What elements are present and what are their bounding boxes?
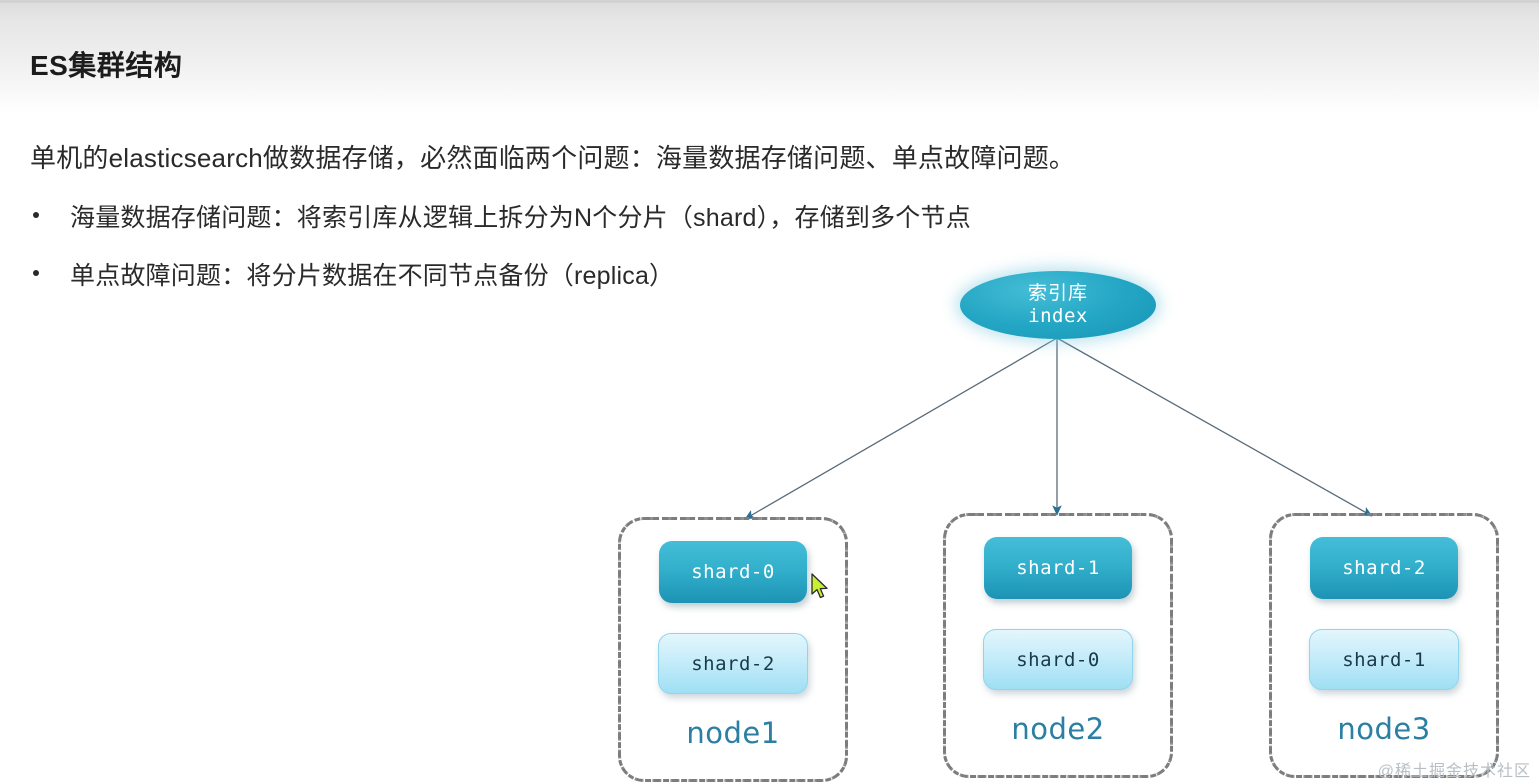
page-header: ES集群结构 (0, 0, 1539, 112)
bullet-text: 单点故障问题：将分片数据在不同节点备份（replica） (70, 256, 674, 292)
list-item: 单点故障问题：将分片数据在不同节点备份（replica） (30, 256, 1230, 314)
intro-paragraph: 单机的elasticsearch做数据存储，必然面临两个问题：海量数据存储问题、… (30, 138, 1075, 175)
list-item: 海量数据存储问题：将索引库从逻辑上拆分为N个分片（shard），存储到多个节点 (30, 198, 1230, 256)
bullet-text: 海量数据存储问题：将索引库从逻辑上拆分为N个分片（shard），存储到多个节点 (70, 198, 971, 234)
bullet-list: 海量数据存储问题：将索引库从逻辑上拆分为N个分片（shard），存储到多个节点 … (30, 198, 1230, 314)
slide-content: 单机的elasticsearch做数据存储，必然面临两个问题：海量数据存储问题、… (0, 112, 1539, 784)
mouse-cursor-icon (811, 573, 831, 601)
bullet-dot-icon (33, 270, 39, 276)
watermark: @稀土掘金技术社区 (1378, 757, 1531, 781)
page-title: ES集群结构 (30, 44, 182, 84)
header-top-divider (0, 0, 1539, 3)
bullet-dot-icon (33, 212, 39, 218)
